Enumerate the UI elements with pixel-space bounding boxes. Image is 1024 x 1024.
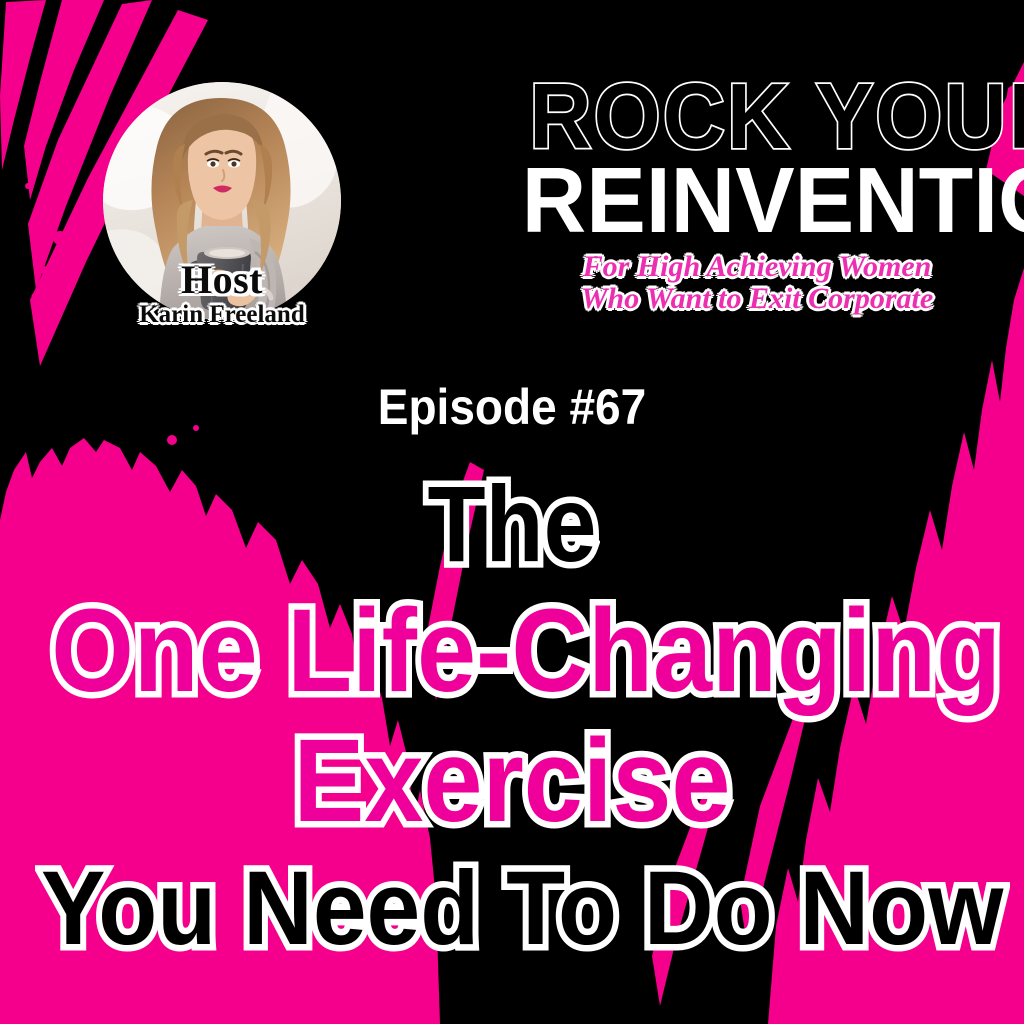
splash-dot-a bbox=[53, 231, 67, 245]
host-label-group: Host Karin Freeland bbox=[103, 260, 341, 327]
splash-stroke-top-left-b bbox=[24, 0, 104, 200]
tagline-line-2: Who Want to Exit Corporate bbox=[512, 283, 1002, 315]
episode-title: The One Life-Changing Exercise You Need … bbox=[0, 470, 1024, 961]
show-tagline: For High Achieving Women Who Want to Exi… bbox=[512, 251, 1002, 316]
show-branding: ROCK YOUR REINVENTION For High Achieving… bbox=[512, 72, 1002, 315]
episode-title-line-2: One Life-Changing bbox=[51, 592, 973, 710]
splash-dot-e bbox=[167, 435, 177, 445]
show-title-line-1: ROCK YOUR bbox=[529, 72, 985, 160]
splash-dot-d bbox=[25, 183, 31, 189]
splash-stroke-top-left-a bbox=[0, 0, 46, 170]
episode-title-line-3: Exercise bbox=[51, 722, 973, 840]
host-name-label: Karin Freeland bbox=[103, 302, 341, 327]
splash-dot-c bbox=[32, 294, 37, 299]
host-role-label: Host bbox=[103, 260, 341, 300]
tagline-line-1: For High Achieving Women bbox=[512, 251, 1002, 283]
episode-label: Episode #67 bbox=[41, 378, 983, 436]
splash-dot-b bbox=[40, 266, 48, 274]
show-title-line-2: REINVENTION bbox=[522, 156, 992, 244]
episode-title-line-1: The bbox=[61, 470, 962, 578]
podcast-cover-art: Host Karin Freeland ROCK YOUR REINVENTIO… bbox=[0, 0, 1024, 1024]
host-block: Host Karin Freeland bbox=[103, 82, 341, 350]
episode-title-line-4: You Need To Do Now bbox=[41, 856, 983, 961]
